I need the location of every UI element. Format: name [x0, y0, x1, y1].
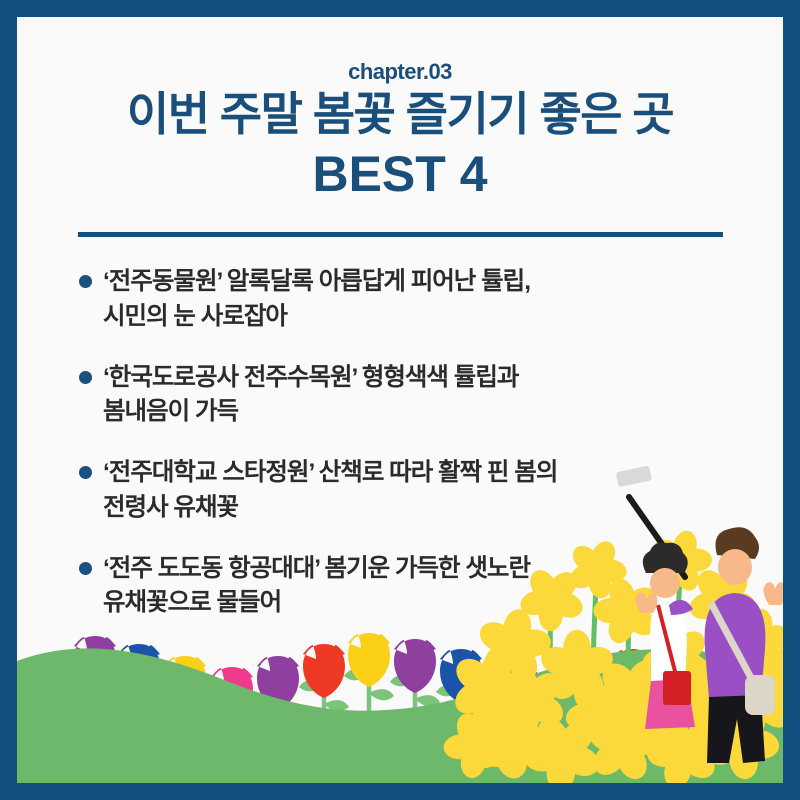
- canola-stem: [532, 703, 537, 783]
- man-crossbody-bag: [745, 675, 775, 715]
- canola-flower-icon: [591, 654, 675, 737]
- canola-stem: [512, 649, 515, 783]
- list-item-text: ‘한국도로공사 전주수목원’ 형형색색 튤립과 봄내음이 가득: [103, 361, 518, 431]
- tulip-icon: [564, 664, 614, 753]
- canola-flower-icon: [584, 706, 663, 783]
- list-item: ‘전주대학교 스타정원’ 산책로 따라 활짝 핀 봄의 전령사 유채꽃: [79, 456, 739, 526]
- tulip-icon: [608, 649, 658, 753]
- list-item-text: ‘전주대학교 스타정원’ 산책로 따라 활짝 핀 봄의 전령사 유채꽃: [103, 456, 557, 526]
- tulip-icon: [299, 644, 349, 753]
- tulip-icon: [523, 671, 573, 753]
- girl-skirt: [645, 679, 695, 729]
- tulip-icon: [253, 656, 303, 753]
- canola-flower-icon: [449, 646, 528, 728]
- grass-hill: [17, 648, 783, 783]
- title-line-2: BEST 4: [17, 143, 783, 207]
- tulip-icon: [207, 667, 257, 753]
- canola-flower-icon: [724, 662, 783, 738]
- canola-flower-icon: [463, 695, 546, 782]
- canola-flower-icon: [683, 687, 750, 756]
- tulip-icon: [114, 644, 164, 753]
- canola-flower-icon: [647, 715, 721, 783]
- canola-flower-icon: [442, 709, 512, 780]
- title-divider: [78, 232, 723, 237]
- man-hand-peace: [763, 582, 783, 605]
- title-line-1: 이번 주말 봄꽃 즐기기 좋은 곳: [127, 88, 673, 140]
- tulip-row: [70, 633, 658, 753]
- highlight-list: ‘전주동물원’ 알록달록 아릅답게 피어난 튤립, 시민의 눈 사로잡아 ‘한국…: [79, 265, 739, 647]
- list-item-text: ‘전주동물원’ 알록달록 아릅답게 피어난 튤립, 시민의 눈 사로잡아: [103, 265, 530, 335]
- list-item: ‘전주동물원’ 알록달록 아릅답게 피어난 튤립, 시민의 눈 사로잡아: [79, 265, 739, 335]
- man-pants: [707, 695, 765, 763]
- tulip-icon: [70, 636, 120, 753]
- girl-handbag: [663, 671, 691, 705]
- tulip-icon: [436, 649, 486, 753]
- bullet-icon: [79, 275, 92, 288]
- bullet-icon: [79, 562, 92, 575]
- chapter-label: chapter.03: [17, 59, 783, 85]
- canola-flower-icon: [668, 655, 746, 734]
- tulip-icon: [390, 639, 440, 753]
- canola-flower-icon: [494, 662, 568, 738]
- card-inner-panel: chapter.03 이번 주말 봄꽃 즐기기 좋은 곳 BEST 4 ‘전주동…: [17, 17, 783, 783]
- tulip-icon: [480, 662, 530, 753]
- page-title: 이번 주말 봄꽃 즐기기 좋은 곳 BEST 4: [17, 85, 783, 207]
- list-item-text: ‘전주 도도동 항공대대’ 봄기운 가득한 샛노란 유채꽃으로 물들어: [103, 552, 530, 622]
- canola-flower-icon: [700, 700, 781, 781]
- tulip-icon: [160, 656, 210, 753]
- canola-flower-icon: [563, 678, 632, 743]
- canola-flower-icon: [750, 643, 783, 706]
- canola-stem: [486, 691, 491, 783]
- tulip-icon: [344, 633, 394, 753]
- list-item: ‘전주 도도동 항공대대’ 봄기운 가득한 샛노란 유채꽃으로 물들어: [79, 552, 739, 622]
- canola-stem: [757, 703, 761, 783]
- spring-flower-card: chapter.03 이번 주말 봄꽃 즐기기 좋은 곳 BEST 4 ‘전주동…: [0, 0, 800, 800]
- canola-flower-icon: [522, 713, 603, 783]
- canola-stem: [628, 699, 633, 783]
- canola-flower-icon: [621, 688, 686, 753]
- bullet-icon: [79, 466, 92, 479]
- list-item: ‘한국도로공사 전주수목원’ 형형색색 튤립과 봄내음이 가득: [79, 361, 739, 431]
- canola-stem: [754, 643, 759, 783]
- bullet-icon: [79, 371, 92, 384]
- canola-stem: [703, 697, 707, 783]
